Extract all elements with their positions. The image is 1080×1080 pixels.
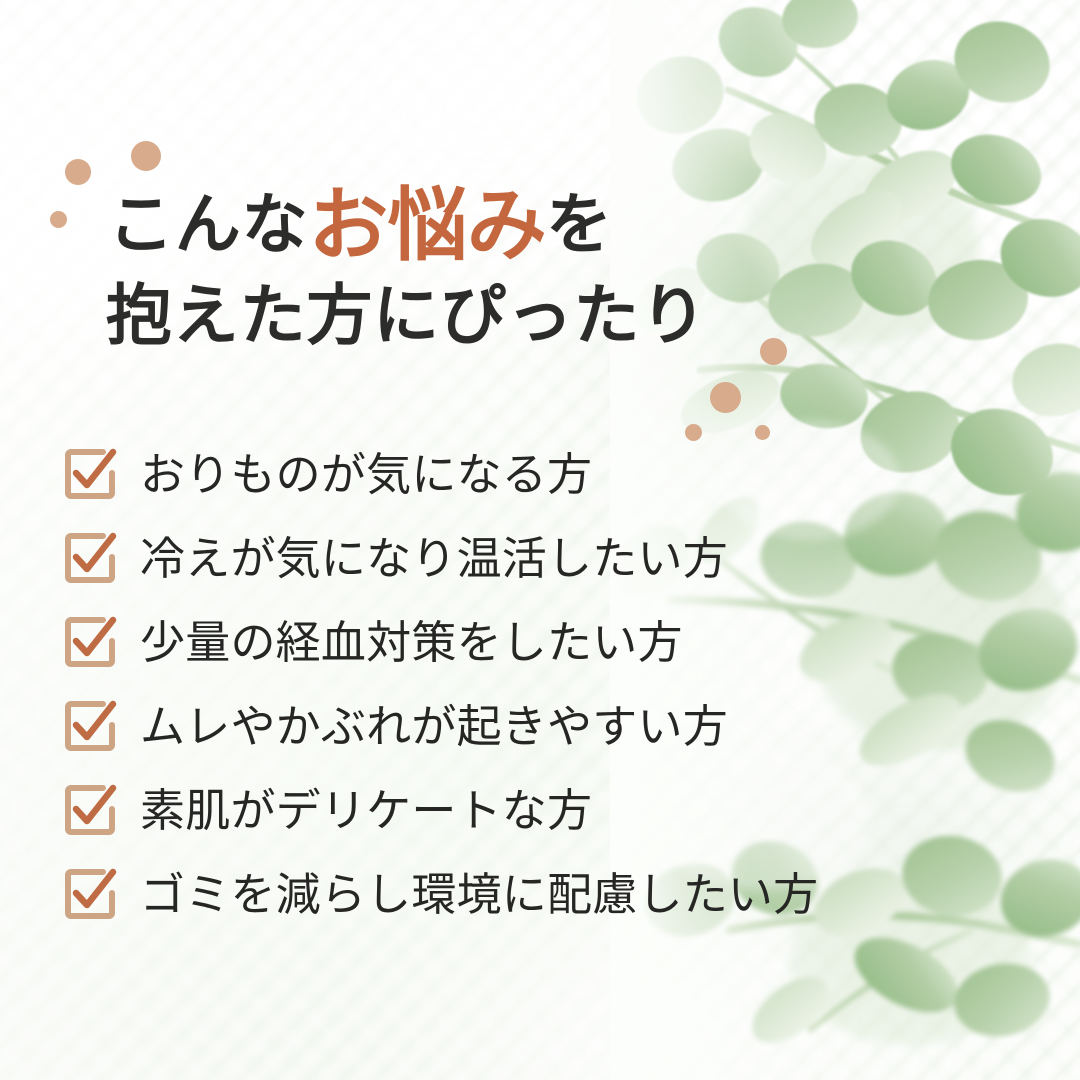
checkbox-checked-icon xyxy=(62,614,118,670)
list-item-label: 少量の経血対策をしたい方 xyxy=(140,620,683,665)
heading-prefix: こんな xyxy=(108,187,308,261)
list-item-label: ゴミを減らし環境に配慮したい方 xyxy=(140,872,818,917)
dot-right-large xyxy=(710,382,741,413)
page-title: こんなお悩みを 抱えた方にぴったり xyxy=(108,186,768,348)
list-item: ゴミを減らし環境に配慮したい方 xyxy=(62,852,892,936)
poster-canvas: こんなお悩みを 抱えた方にぴったり おりものが気になる方 冷えが気になり温活した… xyxy=(0,0,1080,1080)
checkbox-checked-icon xyxy=(62,446,118,502)
list-item-label: おりものが気になる方 xyxy=(140,452,592,497)
checkbox-checked-icon xyxy=(62,866,118,922)
checklist: おりものが気になる方 冷えが気になり温活したい方 少量の経血対策をしたい方 xyxy=(62,432,892,936)
dot-top-small xyxy=(50,211,67,228)
heading-accent-text: お悩み xyxy=(308,181,546,270)
dot-top-medium xyxy=(65,159,91,185)
heading-suffix: を xyxy=(546,187,613,261)
list-item: ムレやかぶれが起きやすい方 xyxy=(62,684,892,768)
dot-top-large xyxy=(131,141,161,171)
list-item-label: 素肌がデリケートな方 xyxy=(140,788,592,833)
heading-line-2: 抱えた方にぴったり xyxy=(106,282,768,348)
list-item: 冷えが気になり温活したい方 xyxy=(62,516,892,600)
heading-line-1: こんなお悩みを xyxy=(108,186,768,266)
list-item-label: 冷えが気になり温活したい方 xyxy=(140,536,728,581)
list-item-label: ムレやかぶれが起きやすい方 xyxy=(140,704,728,749)
list-item: 少量の経血対策をしたい方 xyxy=(62,600,892,684)
checkbox-checked-icon xyxy=(62,530,118,586)
checkbox-checked-icon xyxy=(62,698,118,754)
list-item: おりものが気になる方 xyxy=(62,432,892,516)
list-item: 素肌がデリケートな方 xyxy=(62,768,892,852)
checkbox-checked-icon xyxy=(62,782,118,838)
